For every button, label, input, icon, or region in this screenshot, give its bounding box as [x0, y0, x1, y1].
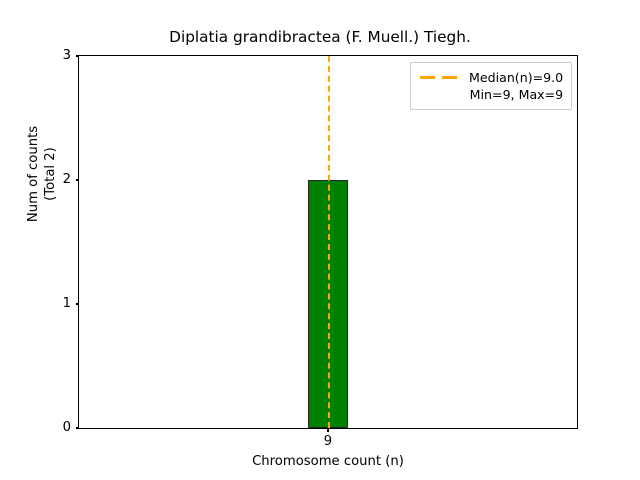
y-tick-label: 3: [63, 47, 71, 65]
y-tick-mark: [76, 55, 80, 56]
x-axis-label: Chromosome count (n): [78, 454, 578, 469]
y-tick-label: 2: [63, 171, 71, 189]
y-tick-mark: [76, 179, 80, 180]
page-title: Diplatia grandibractea (F. Muell.) Tiegh…: [0, 28, 640, 46]
legend-median-dash-icon: [419, 69, 461, 86]
y-tick-mark: [76, 427, 80, 428]
plot-area: 90123: [78, 55, 578, 429]
legend-label-minmax: Min=9, Max=9: [469, 86, 563, 103]
y-tick-label: 0: [63, 419, 71, 437]
y-axis-label: Num of counts (Total 2): [25, 24, 59, 324]
y-tick-mark: [76, 303, 80, 304]
median-line: [328, 56, 330, 428]
x-tick-label: 9: [288, 434, 368, 449]
legend: Median(n)=9.0 Min=9, Max=9: [410, 62, 572, 110]
x-tick-mark: [327, 428, 328, 432]
legend-label-median: Median(n)=9.0: [469, 69, 563, 86]
y-tick-label: 1: [63, 295, 71, 313]
legend-label-group: Median(n)=9.0 Min=9, Max=9: [469, 69, 563, 103]
matplotlib-figure: Diplatia grandibractea (F. Muell.) Tiegh…: [0, 0, 640, 480]
